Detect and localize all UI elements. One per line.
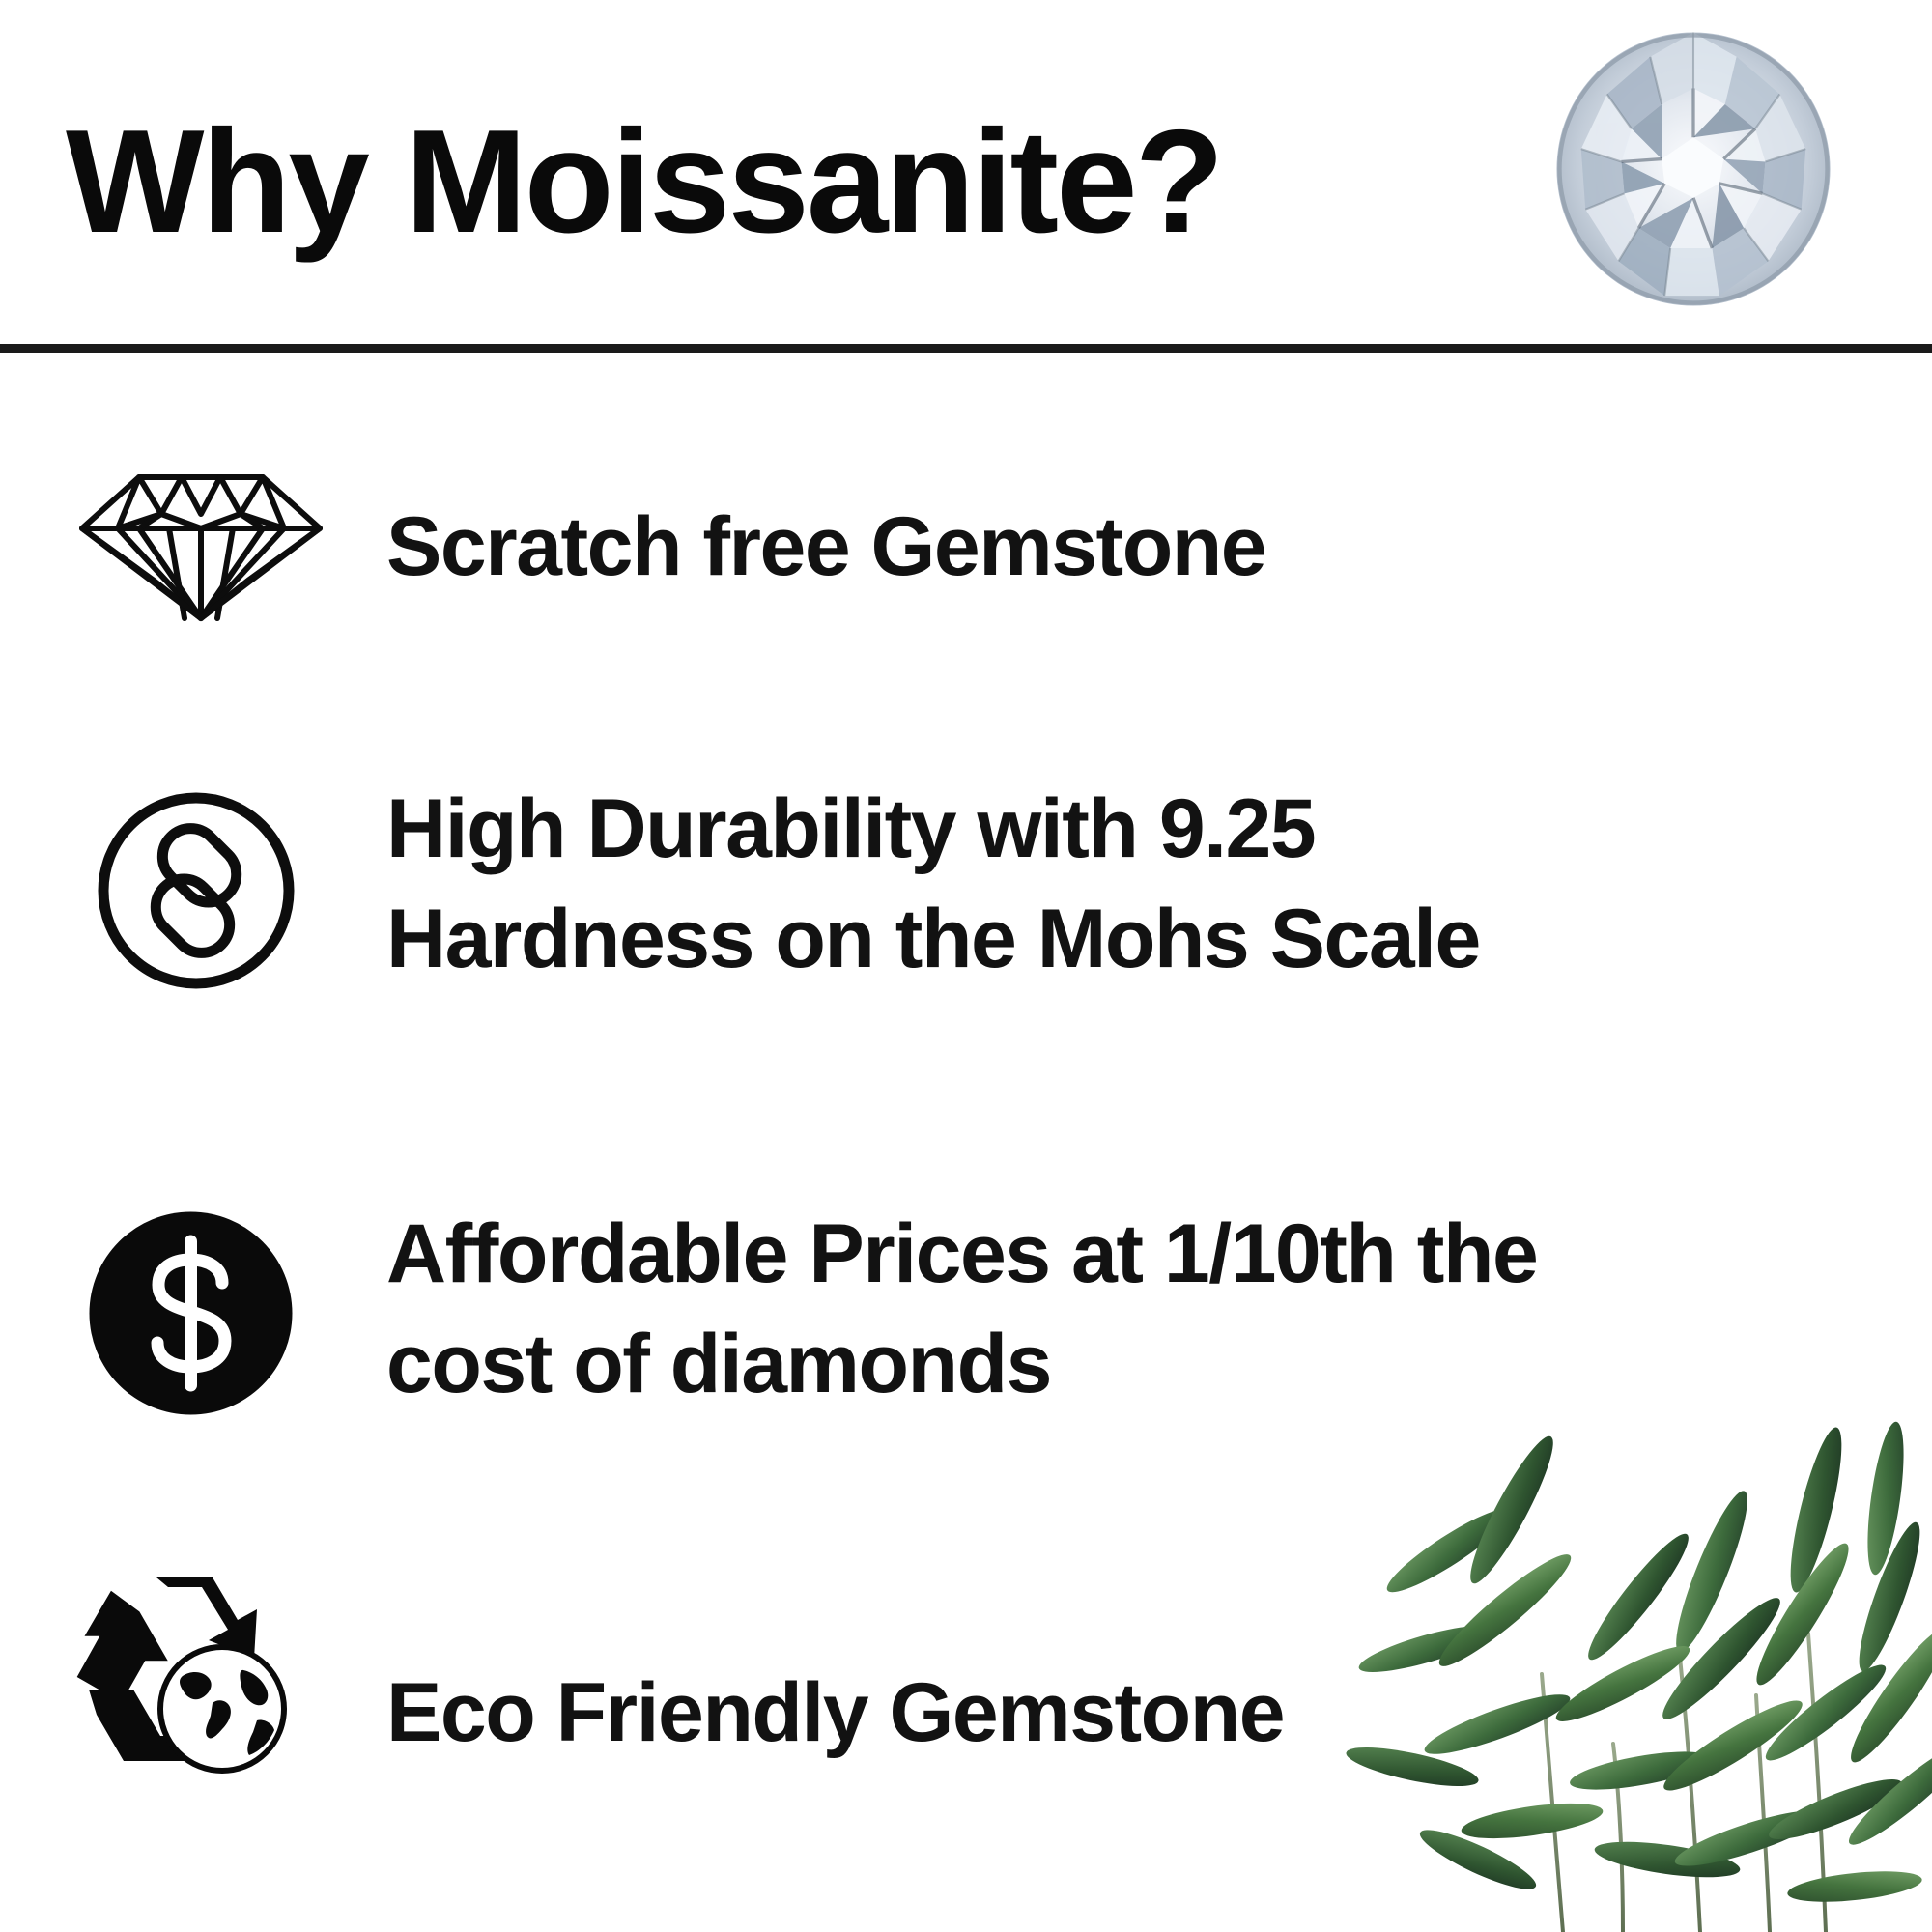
header-banner: Why Moissanite? bbox=[0, 0, 1932, 350]
feature-list: Scratch free Gemstone High Durability wi… bbox=[0, 350, 1932, 1932]
feature-label-price: Affordable Prices at 1/10th the cost of … bbox=[386, 1200, 1537, 1419]
feature-label-eco: Eco Friendly Gemstone bbox=[386, 1659, 1284, 1769]
dollar-coin-icon bbox=[87, 1209, 295, 1417]
recycle-globe-icon bbox=[68, 1562, 299, 1784]
feature-label-durability: High Durability with 9.25 Hardness on th… bbox=[386, 775, 1480, 994]
infographic-page: Why Moissanite? bbox=[0, 0, 1932, 1932]
diamond-outline-icon bbox=[75, 456, 327, 625]
page-title: Why Moissanite? bbox=[66, 108, 1221, 255]
link-chain-circle-icon bbox=[95, 789, 298, 992]
feature-label-scratch: Scratch free Gemstone bbox=[386, 493, 1265, 603]
diamond-gem-icon bbox=[1549, 25, 1837, 313]
